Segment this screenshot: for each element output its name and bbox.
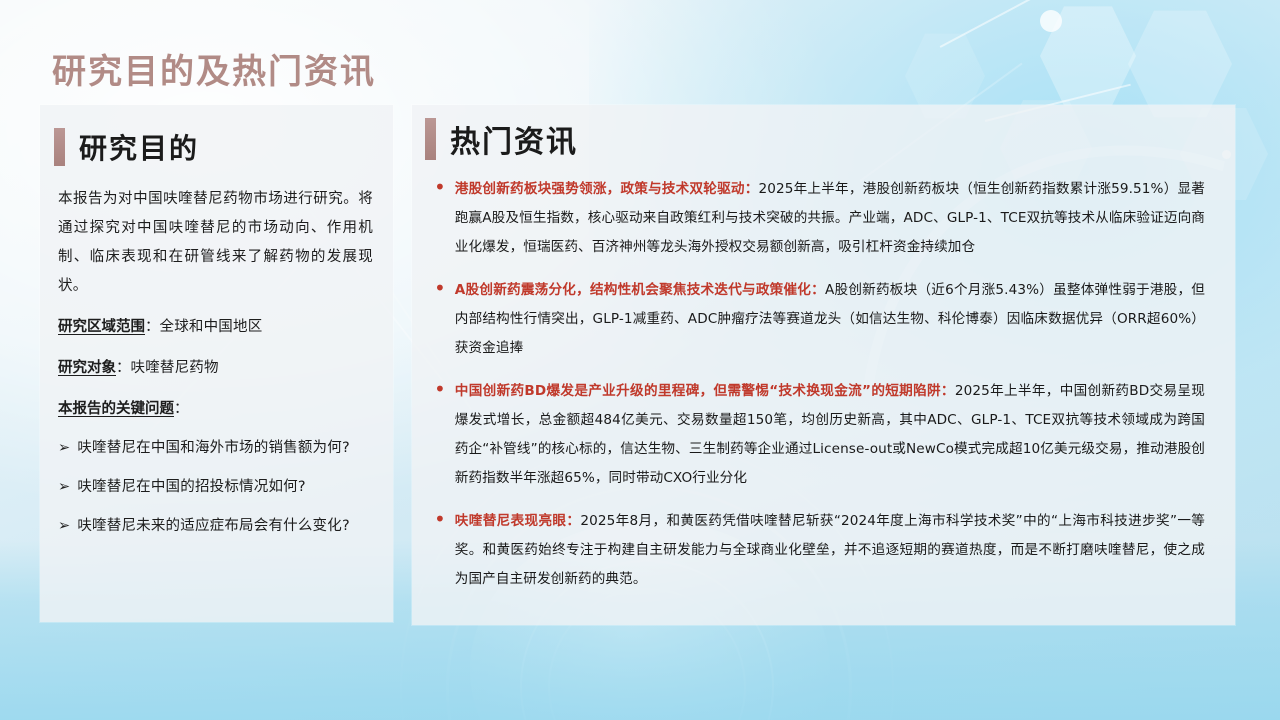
field-separator: ： [145,319,160,335]
research-purpose-paragraph: 本报告为对中国呋喹替尼药物市场进行研究。将通过探究对中国呋喹替尼的市场动向、作用… [58,185,373,301]
list-item: ➢ 呋喹替尼在中国和海外市场的销售额为何? [58,434,373,463]
molecule-node-dot [1040,10,1062,32]
accent-bar [425,118,436,160]
news-lead: 呋喹替尼表现亮眼： [455,513,581,529]
field-value: 全球和中国地区 [160,319,263,335]
hot-news-title: 热门资讯 [450,117,578,161]
page-title: 研究目的及热门资讯 [52,44,376,93]
news-lead: A股创新药震荡分化，结构性机会聚焦技术迭代与政策催化： [455,282,825,298]
list-item: • A股创新药震荡分化，结构性机会聚焦技术迭代与政策催化：A股创新药板块（近6个… [434,276,1205,363]
accent-bar [54,128,65,166]
news-lead: 中国创新药BD爆发是产业升级的里程碑，但需警惕“技术换现金流”的短期陷阱： [455,383,955,399]
research-purpose-header: 研究目的 [54,127,393,167]
field-label: 研究区域范围 [58,319,145,335]
arrow-icon: ➢ [58,512,70,541]
news-text: A股创新药震荡分化，结构性机会聚焦技术迭代与政策催化：A股创新药板块（近6个月涨… [455,276,1205,363]
bullet-icon: • [434,174,446,262]
field-research-subject: 研究对象：呋喹替尼药物 [58,354,373,383]
news-text: 中国创新药BD爆发是产业升级的里程碑，但需警惕“技术换现金流”的短期陷阱：202… [455,377,1205,493]
list-item: • 中国创新药BD爆发是产业升级的里程碑，但需警惕“技术换现金流”的短期陷阱：2… [434,377,1205,493]
hexagon-shape [1040,2,1136,110]
field-research-region: 研究区域范围：全球和中国地区 [58,313,373,342]
list-item: ➢ 呋喹替尼在中国的招投标情况如何? [58,473,373,502]
list-item-label: 呋喹替尼在中国的招投标情况如何? [77,473,305,502]
hot-news-panel: 热门资讯 • 港股创新药板块强势领涨，政策与技术双轮驱动：2025年上半年，港股… [412,105,1235,625]
research-purpose-body: 本报告为对中国呋喹替尼药物市场进行研究。将通过探究对中国呋喹替尼的市场动向、作用… [58,185,373,541]
list-item: • 呋喹替尼表现亮眼：2025年8月，和黄医药凭借呋喹替尼斩获“2024年度上海… [434,507,1205,594]
news-text: 呋喹替尼表现亮眼：2025年8月，和黄医药凭借呋喹替尼斩获“2024年度上海市科… [455,507,1205,594]
field-separator: ： [116,360,131,376]
news-lead: 港股创新药板块强势领涨，政策与技术双轮驱动： [455,181,759,197]
slide-root: 研究目的及热门资讯 研究目的 本报告为对中国呋喹替尼药物市场进行研究。将通过探究… [0,0,1280,720]
research-purpose-panel: 研究目的 本报告为对中国呋喹替尼药物市场进行研究。将通过探究对中国呋喹替尼的市场… [40,105,393,622]
bullet-icon: • [434,275,446,363]
news-text: 港股创新药板块强势领涨，政策与技术双轮驱动：2025年上半年，港股创新药板块（恒… [455,175,1205,262]
molecule-bond-line [940,0,1047,47]
list-item: ➢ 呋喹替尼未来的适应症布局会有什么变化? [58,512,373,541]
list-item: • 港股创新药板块强势领涨，政策与技术双轮驱动：2025年上半年，港股创新药板块… [434,175,1205,262]
key-questions-label: 本报告的关键问题 [58,401,174,417]
list-item-label: 呋喹替尼在中国和海外市场的销售额为何? [77,434,350,463]
key-questions-heading: 本报告的关键问题： [58,395,373,424]
hot-news-header: 热门资讯 [425,117,1235,161]
arrow-icon: ➢ [58,434,70,463]
research-purpose-title: 研究目的 [79,127,199,167]
field-value: 呋喹替尼药物 [131,360,219,376]
bullet-icon: • [434,376,446,493]
key-questions-colon: ： [174,401,189,417]
list-item-label: 呋喹替尼未来的适应症布局会有什么变化? [77,512,350,541]
hot-news-body: • 港股创新药板块强势领涨，政策与技术双轮驱动：2025年上半年，港股创新药板块… [434,175,1205,594]
arrow-icon: ➢ [58,473,70,502]
bullet-icon: • [434,506,446,594]
field-label: 研究对象 [58,360,116,376]
